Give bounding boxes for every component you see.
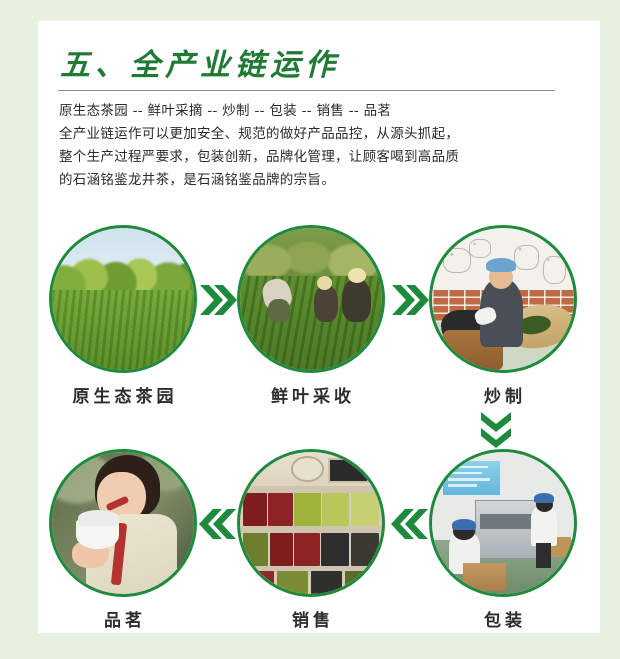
double-chevron-right-icon [390, 283, 430, 317]
leaf-picking-photo [237, 225, 385, 373]
intro-line-3: 整个生产过程严要求，包装创新，品牌化管理，让顾客喝到高品质 [59, 146, 579, 169]
intro-line-2: 全产业链运作可以更加安全、规范的做好产品品控，从源头抓起， [59, 123, 579, 146]
process-step-leaf-picking[interactable]: 鲜叶采收 [234, 225, 388, 407]
step-caption: 包装 [426, 606, 580, 631]
retail-shelf-photo [237, 449, 385, 597]
step-caption: 鲜叶采收 [234, 382, 388, 407]
double-chevron-right-icon [198, 283, 238, 317]
process-row-top: 原生态茶园 [38, 225, 600, 425]
tea-tasting-photo [49, 449, 197, 597]
process-step-retail[interactable]: 销售 [234, 449, 388, 631]
double-chevron-left-icon [198, 507, 238, 541]
step-caption: 品茗 [46, 606, 200, 631]
process-step-tea-garden[interactable]: 原生态茶园 [46, 225, 200, 407]
step-caption: 销售 [234, 606, 388, 631]
process-row-bottom: 品茗 [38, 449, 600, 649]
pan-frying-photo [429, 225, 577, 373]
step-caption: 炒制 [426, 382, 580, 407]
title-divider [58, 90, 555, 91]
intro-line-4: 的石涵铭鉴龙井茶，是石涵铭鉴品牌的宗旨。 [59, 169, 579, 192]
double-chevron-down-icon [479, 410, 513, 450]
double-chevron-left-icon [390, 507, 430, 541]
step-caption: 原生态茶园 [46, 382, 200, 407]
packaging-line-photo [429, 449, 577, 597]
process-step-tea-tasting[interactable]: 品茗 [46, 449, 200, 631]
intro-paragraph: 原生态茶园 -- 鲜叶采摘 -- 炒制 -- 包装 -- 销售 -- 品茗 全产… [59, 100, 579, 192]
process-step-packaging[interactable]: 包装 [426, 449, 580, 631]
process-step-pan-frying[interactable]: 炒制 [426, 225, 580, 407]
tea-garden-photo [49, 225, 197, 373]
content-card: 五、全产业链运作 原生态茶园 -- 鲜叶采摘 -- 炒制 -- 包装 -- 销售… [38, 21, 600, 633]
intro-line-1: 原生态茶园 -- 鲜叶采摘 -- 炒制 -- 包装 -- 销售 -- 品茗 [59, 100, 579, 123]
page-title: 五、全产业链运作 [60, 40, 340, 84]
page-root: 五、全产业链运作 原生态茶园 -- 鲜叶采摘 -- 炒制 -- 包装 -- 销售… [0, 0, 620, 659]
